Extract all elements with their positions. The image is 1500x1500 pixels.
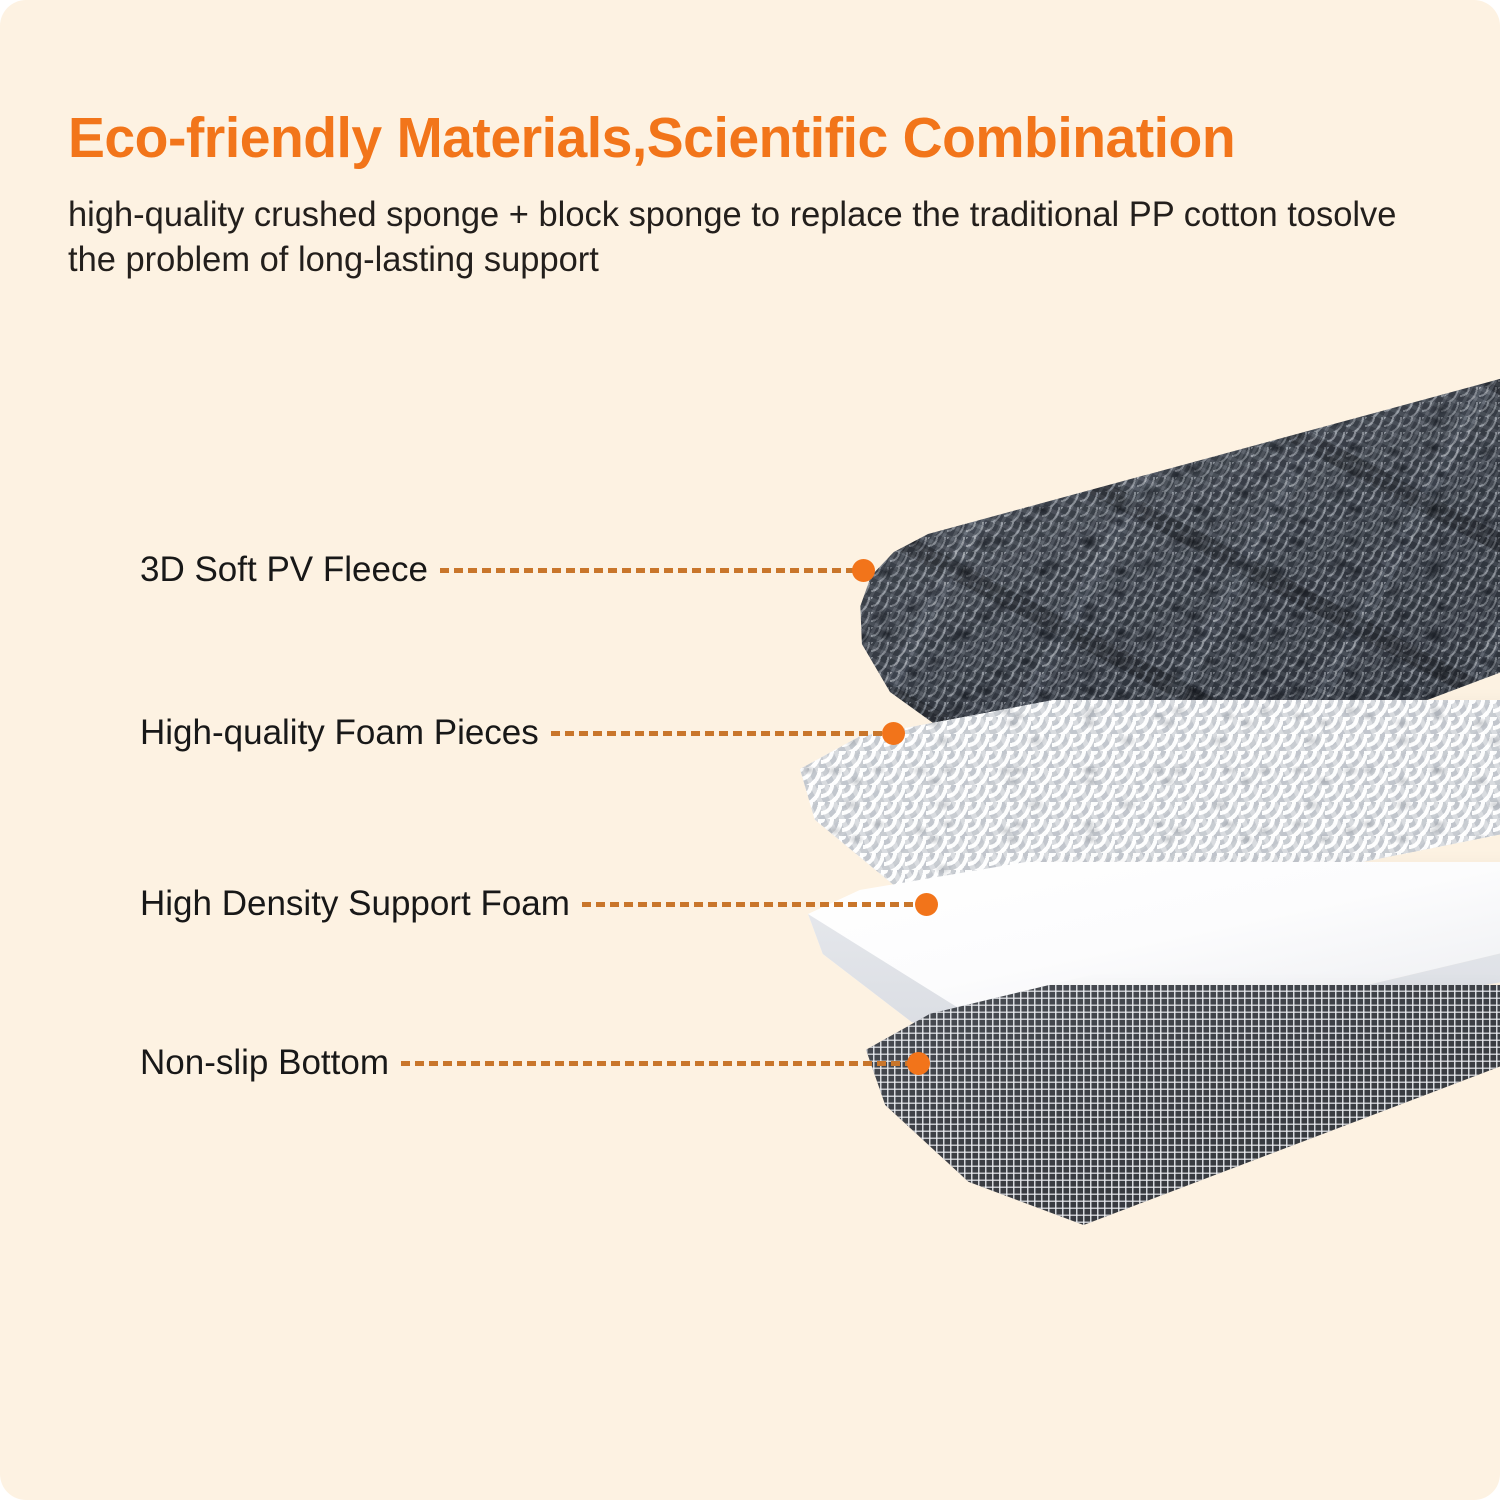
fleece-quilt-pattern — [795, 372, 1500, 772]
leader-endpoint-dot-icon — [915, 893, 938, 916]
callout-label: Non-slip Bottom — [140, 1045, 389, 1080]
layer-3d-soft-pv-fleece — [795, 372, 1500, 772]
callout-label: 3D Soft PV Fleece — [140, 552, 428, 587]
layer-high-quality-foam-pieces — [800, 700, 1500, 930]
leader-line-dashed — [582, 902, 917, 907]
leader-line-dashed — [440, 568, 854, 573]
support-foam-edge-shadow — [808, 862, 1500, 1062]
callout-label: High Density Support Foam — [140, 886, 570, 921]
leader-line-dashed — [401, 1061, 909, 1066]
callout-label: High-quality Foam Pieces — [140, 715, 539, 750]
leader-endpoint-dot-icon — [907, 1052, 930, 1075]
leader-line-dashed — [551, 731, 884, 736]
page-subtitle: high-quality crushed sponge + block spon… — [68, 170, 1422, 283]
leader-endpoint-dot-icon — [852, 559, 875, 582]
leader-endpoint-dot-icon — [882, 722, 905, 745]
page-title: Eco-friendly Materials,Scientific Combin… — [68, 108, 1407, 170]
product-infographic: Eco-friendly Materials,Scientific Combin… — [0, 0, 1500, 1500]
layer-non-slip-bottom — [866, 985, 1500, 1225]
layer-high-density-support-foam — [808, 862, 1500, 1062]
header-block: Eco-friendly Materials,Scientific Combin… — [68, 108, 1448, 283]
